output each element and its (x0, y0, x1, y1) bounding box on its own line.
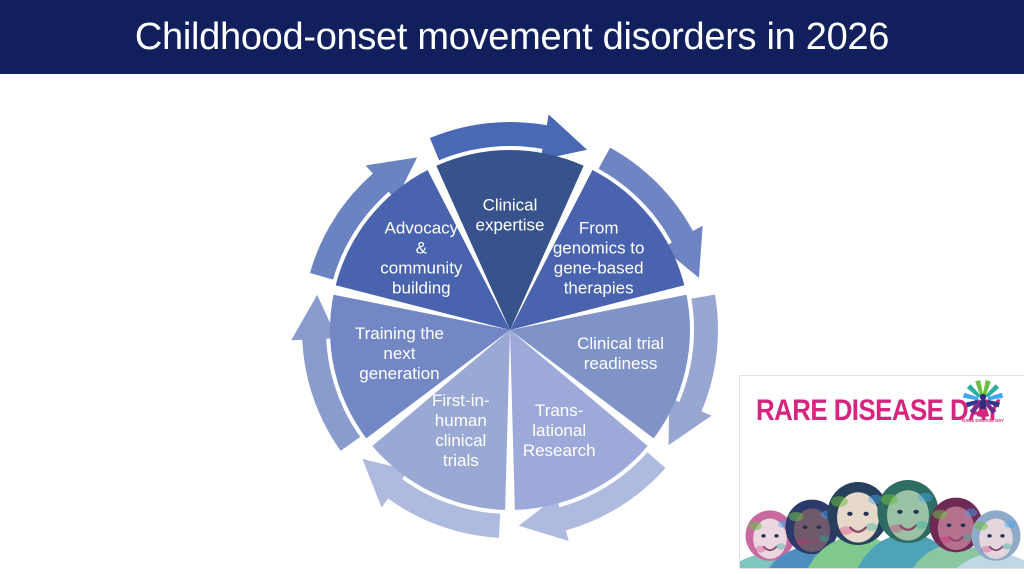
cycle-wedge-label-clinical-trial-readiness: Clinical trialreadiness (577, 335, 664, 374)
photo-colour-splash (1004, 520, 1016, 528)
photo-colour-splash (933, 510, 948, 519)
photo-colour-splash (839, 526, 852, 534)
photo-person-eye (863, 512, 868, 516)
photo-person-eye (817, 525, 822, 529)
photo-person-eye (961, 523, 966, 527)
photo-colour-splash (748, 522, 761, 531)
cycle-diagram-svg: ClinicalexpertiseFromgenomics togene-bas… (255, 78, 767, 574)
photo-colour-splash (776, 543, 786, 549)
photo-colour-splash (889, 524, 902, 532)
photo-colour-splash (1002, 543, 1012, 549)
photo-colour-splash (789, 512, 804, 521)
photo-person-eye (803, 525, 808, 529)
rare-disease-day-hands-starburst-icon: RARE DISEASE DAY (956, 378, 1010, 428)
photo-person-eye (847, 512, 852, 516)
photo-person-eye (897, 510, 902, 514)
photo-person-eye (774, 534, 778, 537)
photo-colour-splash (819, 535, 829, 542)
photo-person-eye (947, 523, 952, 527)
photo-colour-splash (965, 509, 977, 517)
cycle-wedge-label-advocacy-and-community-building: Advocacy&communitybuilding (380, 219, 463, 298)
photo-person-eye (987, 534, 991, 537)
rare-disease-day-logo-caption: RARE DISEASE DAY (962, 418, 1004, 423)
photo-colour-splash (881, 494, 898, 505)
cycle-wedge-label-clinical-expertise: Clinicalexpertise (476, 196, 545, 235)
photo-colour-splash (981, 546, 992, 553)
photo-colour-splash (916, 521, 928, 529)
photo-colour-splash (755, 546, 766, 553)
photo-colour-splash (974, 522, 987, 531)
photo-person-eye (761, 534, 765, 537)
rare-disease-day-group-photo (740, 438, 1024, 569)
cycle-diagram: ClinicalexpertiseFromgenomics togene-bas… (255, 78, 767, 574)
photo-colour-splash (918, 493, 932, 503)
photo-person-eye (913, 510, 918, 514)
photo-person-eye (1000, 534, 1004, 537)
title-bar: Childhood-onset movement disorders in 20… (0, 0, 1024, 74)
photo-colour-splash (831, 496, 848, 507)
photo-colour-splash (866, 523, 878, 531)
photo-colour-splash (940, 536, 951, 543)
photo-colour-splash (796, 538, 807, 545)
page-title: Childhood-onset movement disorders in 20… (0, 0, 1024, 74)
rare-disease-day-panel: RARE DISEASE DAY RARE DISEASE DAY (739, 375, 1024, 569)
